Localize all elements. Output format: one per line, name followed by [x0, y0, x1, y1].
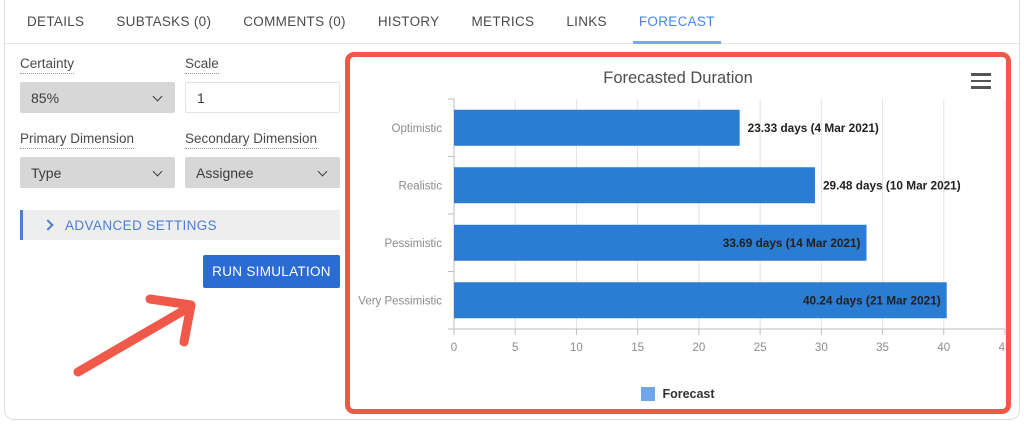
tab-details[interactable]: DETAILS	[11, 0, 100, 44]
scale-label: Scale	[185, 56, 219, 74]
x-axis-tick-label: 0	[451, 342, 457, 354]
category-label: Realistic	[399, 180, 443, 192]
bar-data-label: 33.69 days (14 Mar 2021)	[723, 236, 861, 250]
tab-label: FORECAST	[639, 14, 715, 29]
bar-data-label: 23.33 days (4 Mar 2021)	[748, 121, 879, 135]
legend-swatch	[641, 387, 655, 401]
tab-links[interactable]: LINKS	[550, 0, 623, 44]
category-label: Optimistic	[392, 123, 443, 135]
tab-comments[interactable]: COMMENTS (0)	[227, 0, 362, 44]
secondary-dimension-value: Assignee	[196, 165, 254, 181]
tab-history[interactable]: HISTORY	[362, 0, 456, 44]
tab-metrics[interactable]: METRICS	[455, 0, 550, 44]
x-axis-tick-label: 35	[876, 342, 889, 354]
chart-plot-area: Optimistic23.33 days (4 Mar 2021)Realist…	[350, 57, 1006, 409]
scale-input[interactable]: 1	[185, 82, 340, 113]
certainty-field: Certainty 85%	[20, 55, 175, 113]
x-axis-tick-label: 15	[631, 342, 644, 354]
x-axis-tick-label: 10	[570, 342, 583, 354]
tab-forecast[interactable]: FORECAST	[623, 0, 731, 44]
secondary-dimension-select[interactable]: Assignee	[185, 157, 340, 188]
x-axis-tick-label: 30	[815, 342, 828, 354]
run-simulation-button[interactable]: RUN SIMULATION	[203, 255, 340, 288]
secondary-dimension-label: Secondary Dimension	[185, 131, 317, 149]
forecast-page: DETAILS SUBTASKS (0) COMMENTS (0) HISTOR…	[0, 0, 1024, 430]
tab-label: HISTORY	[378, 14, 440, 29]
tab-label: LINKS	[566, 14, 607, 29]
x-axis-tick-label: 40	[937, 342, 950, 354]
bar-chart-svg: Optimistic23.33 days (4 Mar 2021)Realist…	[350, 57, 1006, 409]
tab-label: SUBTASKS (0)	[116, 14, 211, 29]
bar-data-label: 29.48 days (10 Mar 2021)	[823, 178, 961, 192]
x-axis-tick-label: 25	[754, 342, 767, 354]
primary-dimension-field: Primary Dimension Type	[20, 130, 175, 188]
tab-label: DETAILS	[27, 14, 84, 29]
advanced-settings-label: ADVANCED SETTINGS	[65, 218, 217, 233]
bar[interactable]	[454, 167, 815, 203]
secondary-dimension-field: Secondary Dimension Assignee	[185, 130, 340, 188]
category-label: Very Pessimistic	[358, 295, 442, 307]
chart-legend: Forecast	[350, 387, 1006, 401]
tab-label: COMMENTS (0)	[243, 14, 346, 29]
primary-dimension-value: Type	[31, 165, 61, 181]
bar[interactable]	[454, 110, 740, 146]
category-label: Pessimistic	[384, 238, 442, 250]
certainty-select[interactable]: 85%	[20, 82, 175, 113]
chevron-down-icon	[319, 168, 329, 178]
chevron-right-icon	[43, 219, 55, 231]
chevron-down-icon	[154, 168, 164, 178]
tab-subtasks[interactable]: SUBTASKS (0)	[100, 0, 227, 44]
certainty-value: 85%	[31, 90, 59, 106]
legend-label: Forecast	[662, 387, 714, 401]
primary-dimension-label: Primary Dimension	[20, 131, 134, 149]
forecast-chart-card: Forecasted Duration Optimistic23.33 days…	[345, 52, 1011, 414]
primary-dimension-select[interactable]: Type	[20, 157, 175, 188]
x-axis-tick-label: 5	[512, 342, 518, 354]
bar-data-label: 40.24 days (21 Mar 2021)	[803, 293, 941, 307]
x-axis-tick-label: 45	[999, 342, 1006, 354]
chevron-down-icon	[154, 93, 164, 103]
x-axis-tick-label: 20	[692, 342, 705, 354]
scale-field: Scale 1	[185, 55, 340, 113]
advanced-settings-toggle[interactable]: ADVANCED SETTINGS	[20, 210, 340, 240]
tab-label: METRICS	[471, 14, 534, 29]
tab-bar: DETAILS SUBTASKS (0) COMMENTS (0) HISTOR…	[5, 0, 1019, 44]
certainty-label: Certainty	[20, 56, 74, 74]
